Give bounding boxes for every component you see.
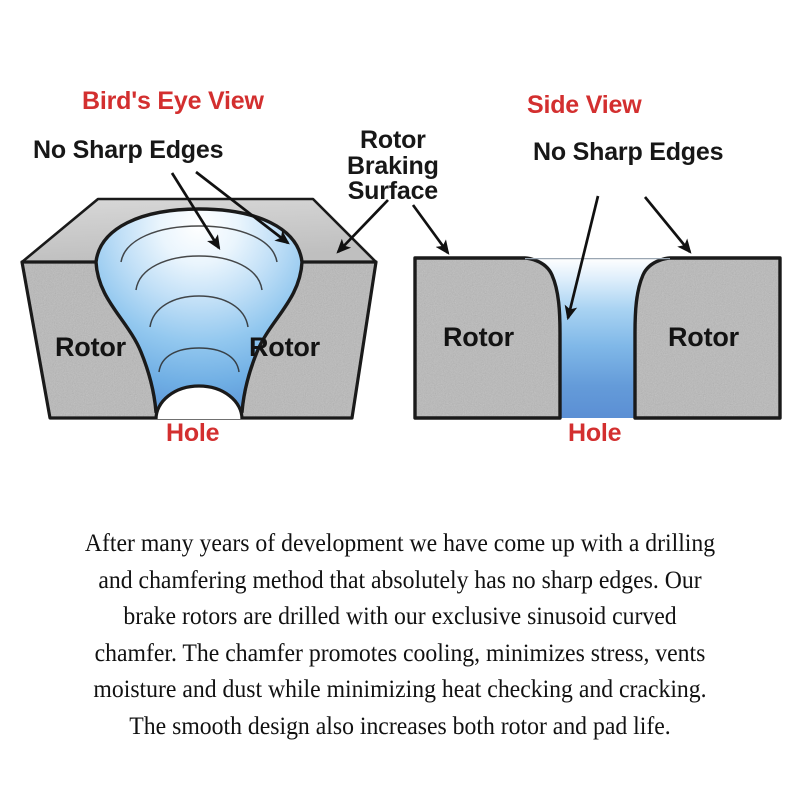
rbs-line-3: Surface xyxy=(347,179,439,205)
paragraph-line: and chamfering method that absolutely ha… xyxy=(28,562,772,599)
side-view-no-sharp-edges-label: No Sharp Edges xyxy=(533,139,723,166)
side-view-rotor-label-left: Rotor xyxy=(443,323,514,352)
birds-eye-hole-label: Hole xyxy=(166,420,219,447)
birds-eye-view-figure xyxy=(22,172,388,419)
birds-eye-rotor-label-right: Rotor xyxy=(249,333,320,362)
side-view-rotor-label-right: Rotor xyxy=(668,323,739,352)
birds-eye-rotor-label-left: Rotor xyxy=(55,333,126,362)
braking-surface-arrow xyxy=(413,205,448,253)
side-view-title: Side View xyxy=(527,92,641,119)
paragraph-line: chamfer. The chamfer promotes cooling, m… xyxy=(28,635,772,672)
paragraph-line: The smooth design also increases both ro… xyxy=(28,708,772,745)
birds-eye-view-title: Bird's Eye View xyxy=(82,88,264,115)
no-sharp-edges-arrow-right-side xyxy=(645,197,690,252)
rotor-braking-surface-label: Rotor Braking Surface xyxy=(347,128,439,205)
rotor-braking-surface-arrow-left xyxy=(338,200,388,252)
rbs-line-2: Braking xyxy=(347,154,439,180)
illustration-canvas: Bird's Eye View No Sharp Edges Rotor Bra… xyxy=(0,0,800,800)
paragraph-line: brake rotors are drilled with our exclus… xyxy=(28,598,772,635)
description-paragraph: After many years of development we have … xyxy=(0,525,800,744)
side-view-hole-label: Hole xyxy=(568,420,621,447)
paragraph-line: moisture and dust while minimizing heat … xyxy=(28,671,772,708)
rbs-line-1: Rotor xyxy=(347,128,439,154)
paragraph-line: After many years of development we have … xyxy=(28,525,772,562)
birds-eye-no-sharp-edges-label: No Sharp Edges xyxy=(33,137,223,164)
side-view-figure xyxy=(413,196,780,418)
